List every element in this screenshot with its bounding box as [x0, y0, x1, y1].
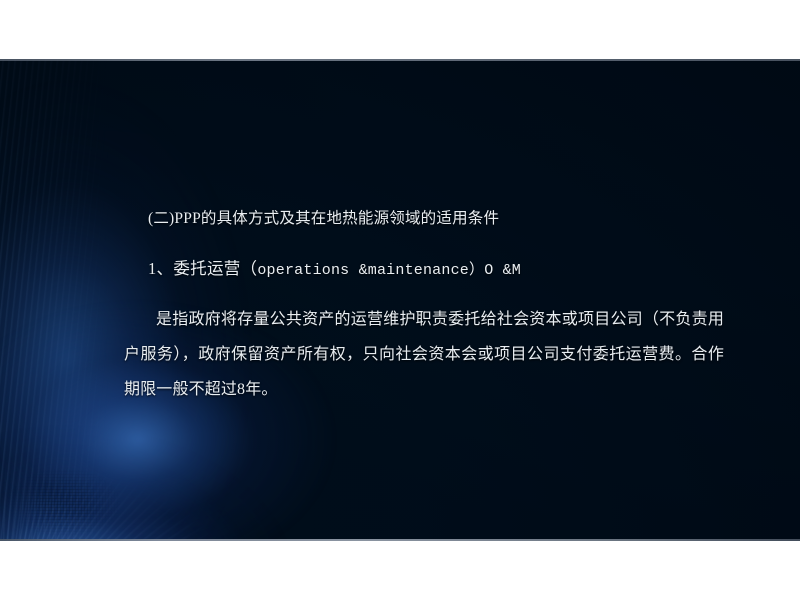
subheading-prefix: 1、委托运营（: [148, 259, 257, 278]
subheading-english-term: operations &maintenance: [257, 262, 469, 279]
slide-subheading: 1、委托运营（operations &maintenance）O &M: [148, 255, 521, 279]
slide-heading: (二)PPP的具体方式及其在地热能源领域的适用条件: [148, 206, 499, 228]
slide-body-paragraph: 是指政府将存量公共资产的运营维护职责委托给社会资本或项目公司（不负责用户服务），…: [124, 302, 724, 407]
presentation-screen: (二)PPP的具体方式及其在地热能源领域的适用条件 1、委托运营（operati…: [0, 0, 800, 600]
slide-top-border: [0, 59, 800, 61]
subheading-suffix: ）O &M: [469, 262, 521, 279]
slide-canvas: (二)PPP的具体方式及其在地热能源领域的适用条件 1、委托运营（operati…: [0, 59, 800, 541]
slide-bottom-border: [0, 539, 800, 541]
slide-content: (二)PPP的具体方式及其在地热能源领域的适用条件 1、委托运营（operati…: [0, 59, 800, 541]
